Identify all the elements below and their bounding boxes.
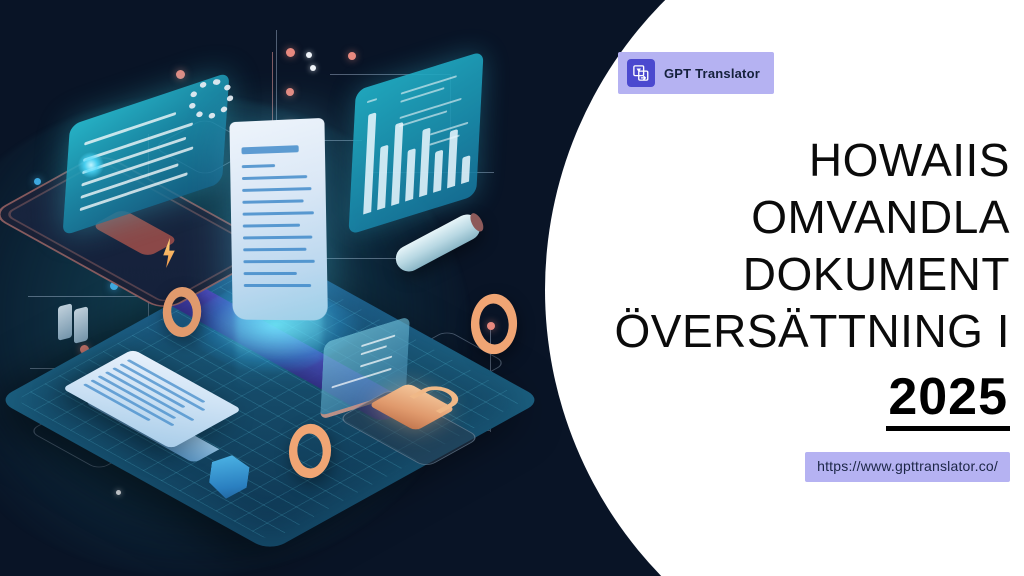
translate-swap-icon [627, 59, 655, 87]
node-dot [310, 65, 316, 71]
website-url: https://www.gpttranslator.co/ [817, 458, 998, 474]
headline-line-4: ÖVERSÄTTNING I [404, 303, 1010, 360]
brand-badge[interactable]: GPT Translator [618, 52, 774, 94]
headline-line-2: OMVANDLA [404, 189, 1010, 246]
headline-line-3: DOKUMENT [404, 246, 1010, 303]
node-dot [306, 52, 312, 58]
year-label: 2025 [886, 368, 1010, 431]
node-dot [176, 70, 185, 79]
screen-glow [78, 152, 104, 178]
node-dot [116, 490, 121, 495]
poster-canvas: GPT Translator HOWAIIS OMVANDLA DOKUMENT… [0, 0, 1024, 576]
floating-document [229, 118, 328, 321]
node-dot [34, 178, 41, 185]
node-dot [286, 88, 294, 96]
page-title: HOWAIIS OMVANDLA DOKUMENT ÖVERSÄTTNING I [404, 132, 1010, 360]
floating-card [58, 303, 72, 340]
node-dot [286, 48, 295, 57]
headline-line-1: HOWAIIS [404, 132, 1010, 189]
url-band[interactable]: https://www.gpttranslator.co/ [805, 452, 1010, 482]
node-dot [348, 52, 356, 60]
floating-card [74, 306, 88, 343]
content-area: GPT Translator HOWAIIS OMVANDLA DOKUMENT… [594, 0, 1024, 576]
wire [28, 296, 148, 297]
brand-name: GPT Translator [664, 66, 760, 81]
